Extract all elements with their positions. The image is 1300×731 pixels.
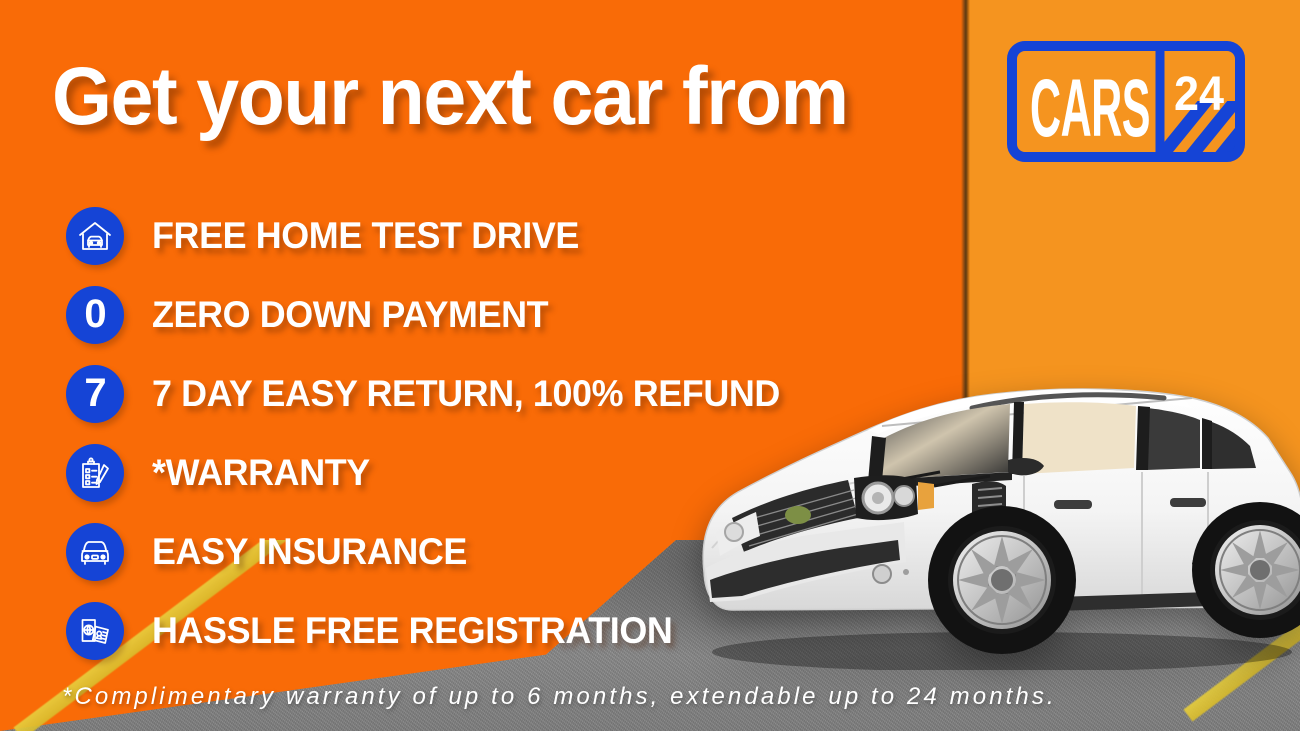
badge-number: 7 [84,373,105,413]
car-front-icon [66,523,124,581]
documents-id-icon [66,602,124,660]
feature-row-hassle-free-registration: HASSLE FREE REGISTRATION [66,591,946,670]
feature-label: FREE HOME TEST DRIVE [152,215,579,257]
warranty-footnote: *Complimentary warranty of up to 6 month… [62,683,1057,711]
page-title: Get your next car from [52,56,898,138]
home-garage-car-icon [66,207,124,265]
feature-list: FREE HOME TEST DRIVE 0 ZERO DOWN PAYMENT… [66,196,946,670]
cars24-promo-banner: Get your next car from CARS 24 [0,0,1300,731]
feature-label: HASSLE FREE REGISTRATION [152,610,672,652]
feature-label: 7 DAY EASY RETURN, 100% REFUND [152,373,780,415]
zero-numeral-icon: 0 [66,286,124,344]
feature-row-free-home-test-drive: FREE HOME TEST DRIVE [66,196,946,275]
feature-row-easy-insurance: EASY INSURANCE [66,512,946,591]
feature-row-seven-day-return: 7 7 DAY EASY RETURN, 100% REFUND [66,354,946,433]
feature-label: EASY INSURANCE [152,531,467,573]
feature-row-warranty: *WARRANTY [66,433,946,512]
feature-row-zero-down-payment: 0 ZERO DOWN PAYMENT [66,275,946,354]
feature-label: *WARRANTY [152,452,370,494]
seven-numeral-icon: 7 [66,365,124,423]
badge-number: 0 [84,294,105,334]
clipboard-pen-icon [66,444,124,502]
cars24-logo[interactable]: CARS 24 [1004,38,1248,165]
logo-number-text: 24 [1174,68,1224,121]
logo-brand-text: CARS [1030,63,1150,154]
feature-label: ZERO DOWN PAYMENT [152,294,548,336]
